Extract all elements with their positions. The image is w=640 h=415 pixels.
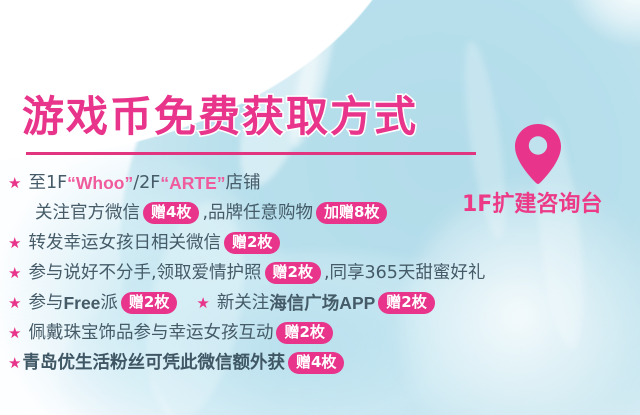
poster-content: 游戏币免费获取方式 1F扩建咨询台 ★至1F “Whoo”/2F “ARTE” … [0,0,640,415]
list-item-text: 派 [100,288,118,318]
brand-name: “Whoo” [67,168,133,198]
coin-reward-badge: 赠2枚 [121,292,177,314]
title-underline-rule [26,152,476,155]
star-bullet-icon: ★ [8,266,21,281]
coin-reward-badge: 赠2枚 [265,262,321,284]
list-item-text: 参与说好不分手,领取爱情护照 [28,258,261,288]
emphasis-text: 海信广场APP [269,288,375,318]
list-item-text: ,同享365天甜蜜好礼 [324,258,485,288]
list-item-text: 参与 [28,288,63,318]
emphasis-text: Free [63,288,100,318]
list-item: ★参与Free派赠2枚★新关注海信广场APP赠2枚 [8,288,640,318]
coin-reward-badge: 加赠8枚 [316,202,387,224]
coin-reward-badge: 赠2枚 [224,232,280,254]
list-item-text: 佩戴珠宝饰品参与幸运女孩互动 [28,318,273,348]
coin-reward-badge: 赠4枚 [143,202,199,224]
list-item: ★佩戴珠宝饰品参与幸运女孩互动赠2枚 [8,318,640,348]
list-item-text: 新关注 [217,288,270,318]
list-item-text: 关注官方微信 [35,198,140,228]
coin-reward-badge: 赠4枚 [288,352,344,374]
benefit-list: ★至1F “Whoo”/2F “ARTE” 店铺关注官方微信赠4枚,品牌任意购物… [8,168,640,378]
star-bullet-icon: ★ [8,176,21,191]
brand-name: “ARTE” [160,168,225,198]
list-item-text: 青岛优生活粉丝可凭此微信额外获 [22,348,285,378]
star-bullet-icon: ★ [8,236,21,251]
coin-reward-badge: 赠2枚 [276,322,332,344]
coin-reward-badge: 赠2枚 [378,292,434,314]
star-bullet-icon: ★ [8,326,21,341]
star-bullet-icon: ★ [8,296,21,311]
list-item-text: 店铺 [226,168,261,198]
poster-title: 游戏币免费获取方式 [22,94,418,140]
list-item-text: ,品牌任意购物 [202,198,313,228]
star-bullet-icon: ★ [196,296,209,311]
list-item: ★转发幸运女孩日相关微信赠2枚 [8,228,640,258]
star-bullet-icon: ★ [8,356,21,371]
list-item: ★青岛优生活粉丝可凭此微信额外获赠4枚 [8,348,640,378]
list-item: ★参与说好不分手,领取爱情护照赠2枚,同享365天甜蜜好礼 [8,258,640,288]
list-item: 关注官方微信赠4枚,品牌任意购物加赠8枚 [8,198,640,228]
promotional-poster: 游戏币免费获取方式 1F扩建咨询台 ★至1F “Whoo”/2F “ARTE” … [0,0,640,415]
list-item-text: 转发幸运女孩日相关微信 [28,228,221,258]
list-item-text: /2F [133,168,160,198]
list-item: ★至1F “Whoo”/2F “ARTE” 店铺 [8,168,640,198]
list-item-text: 至1F [28,168,67,198]
